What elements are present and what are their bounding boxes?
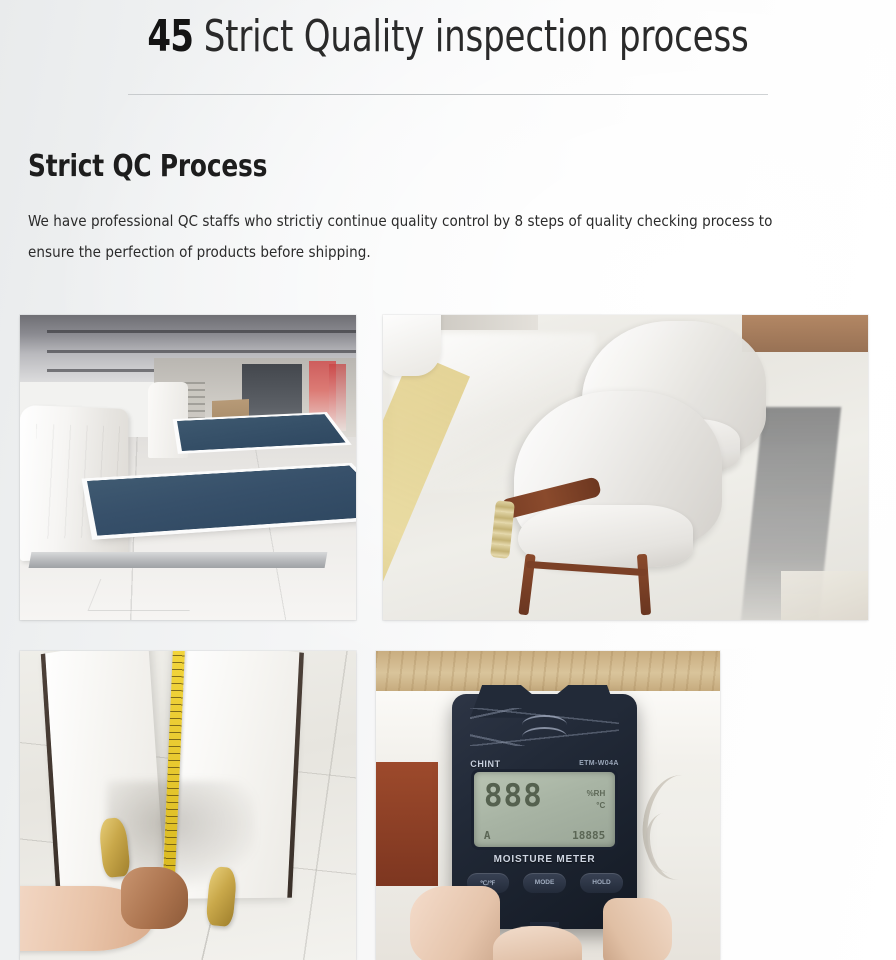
- meter-secondary-row: A 18885: [484, 829, 605, 842]
- ceiling-beam: [47, 350, 356, 353]
- bed-metal-base: [29, 552, 327, 568]
- meter-brand-row: CHINT ETM-W04A: [470, 755, 619, 771]
- photo-tape-measure-check[interactable]: Hand measuring white furniture panels wi…: [20, 651, 356, 960]
- chevron-icon: [522, 715, 567, 725]
- holding-hand: [603, 898, 672, 960]
- floor-tarp: [781, 571, 868, 620]
- meter-unit-temperature: °C: [596, 801, 605, 810]
- bed-frame-primary: [20, 407, 349, 584]
- meter-type-label: MOISTURE METER: [452, 854, 638, 865]
- dining-chair: [514, 391, 723, 611]
- meter-brand-label: CHINT: [470, 759, 501, 769]
- beds-warehouse-scene: [20, 315, 356, 620]
- meter-mode-button[interactable]: MODE: [523, 873, 565, 893]
- photo-gallery: White upholstered bed frames with navy b…: [0, 315, 896, 960]
- red-wood-panel: [376, 762, 438, 886]
- meter-lcd-screen: 888 %RH °C A 18885: [474, 772, 615, 847]
- meter-reading-value: 888: [484, 781, 543, 812]
- floor-marking: [88, 579, 203, 611]
- meter-hold-button[interactable]: HOLD: [580, 873, 622, 893]
- chair-seat: [518, 505, 693, 566]
- holding-hand: [410, 886, 499, 960]
- meter-unit-labels: %RH °C: [587, 788, 606, 812]
- wooden-beam: [376, 651, 720, 691]
- page-title-text: Strict Quality inspection process: [204, 11, 749, 62]
- panel-shadow: [107, 781, 255, 886]
- wall-baseboard: [432, 315, 539, 330]
- photo-moisture-meter[interactable]: CHINT ETM-W04A 888 %RH °C A 18885: [376, 651, 720, 960]
- meter-secondary-value: 18885: [572, 829, 605, 842]
- meter-model-label: ETM-W04A: [579, 760, 619, 767]
- page-root: 45 Strict Quality inspection process Str…: [0, 0, 896, 960]
- protective-wrap: [383, 315, 441, 376]
- meter-mode-letter: A: [484, 829, 491, 842]
- moisture-meter-scene: CHINT ETM-W04A 888 %RH °C A 18885: [376, 651, 720, 960]
- page-title: 45 Strict Quality inspection process: [63, 12, 834, 61]
- page-header: 45 Strict Quality inspection process: [0, 0, 896, 95]
- measuring-scene: [20, 651, 356, 960]
- page-title-number: 45: [147, 11, 193, 62]
- inspector-hand: [121, 867, 188, 929]
- photo-beds-warehouse[interactable]: White upholstered bed frames with navy b…: [20, 315, 356, 620]
- holding-thumb: [493, 926, 582, 960]
- meter-unit-humidity: %RH: [587, 789, 606, 798]
- intro-body-text: We have professional QC staffs who stric…: [28, 206, 821, 268]
- ceiling-beam: [47, 330, 356, 333]
- intro-section: Strict QC Process We have professional Q…: [0, 95, 896, 268]
- photo-chairs-inspection[interactable]: Row of white leather dining armchairs wi…: [383, 315, 868, 620]
- chairs-scene: [383, 315, 868, 620]
- intro-heading: Strict QC Process: [28, 149, 801, 184]
- wood-grain: [376, 651, 720, 691]
